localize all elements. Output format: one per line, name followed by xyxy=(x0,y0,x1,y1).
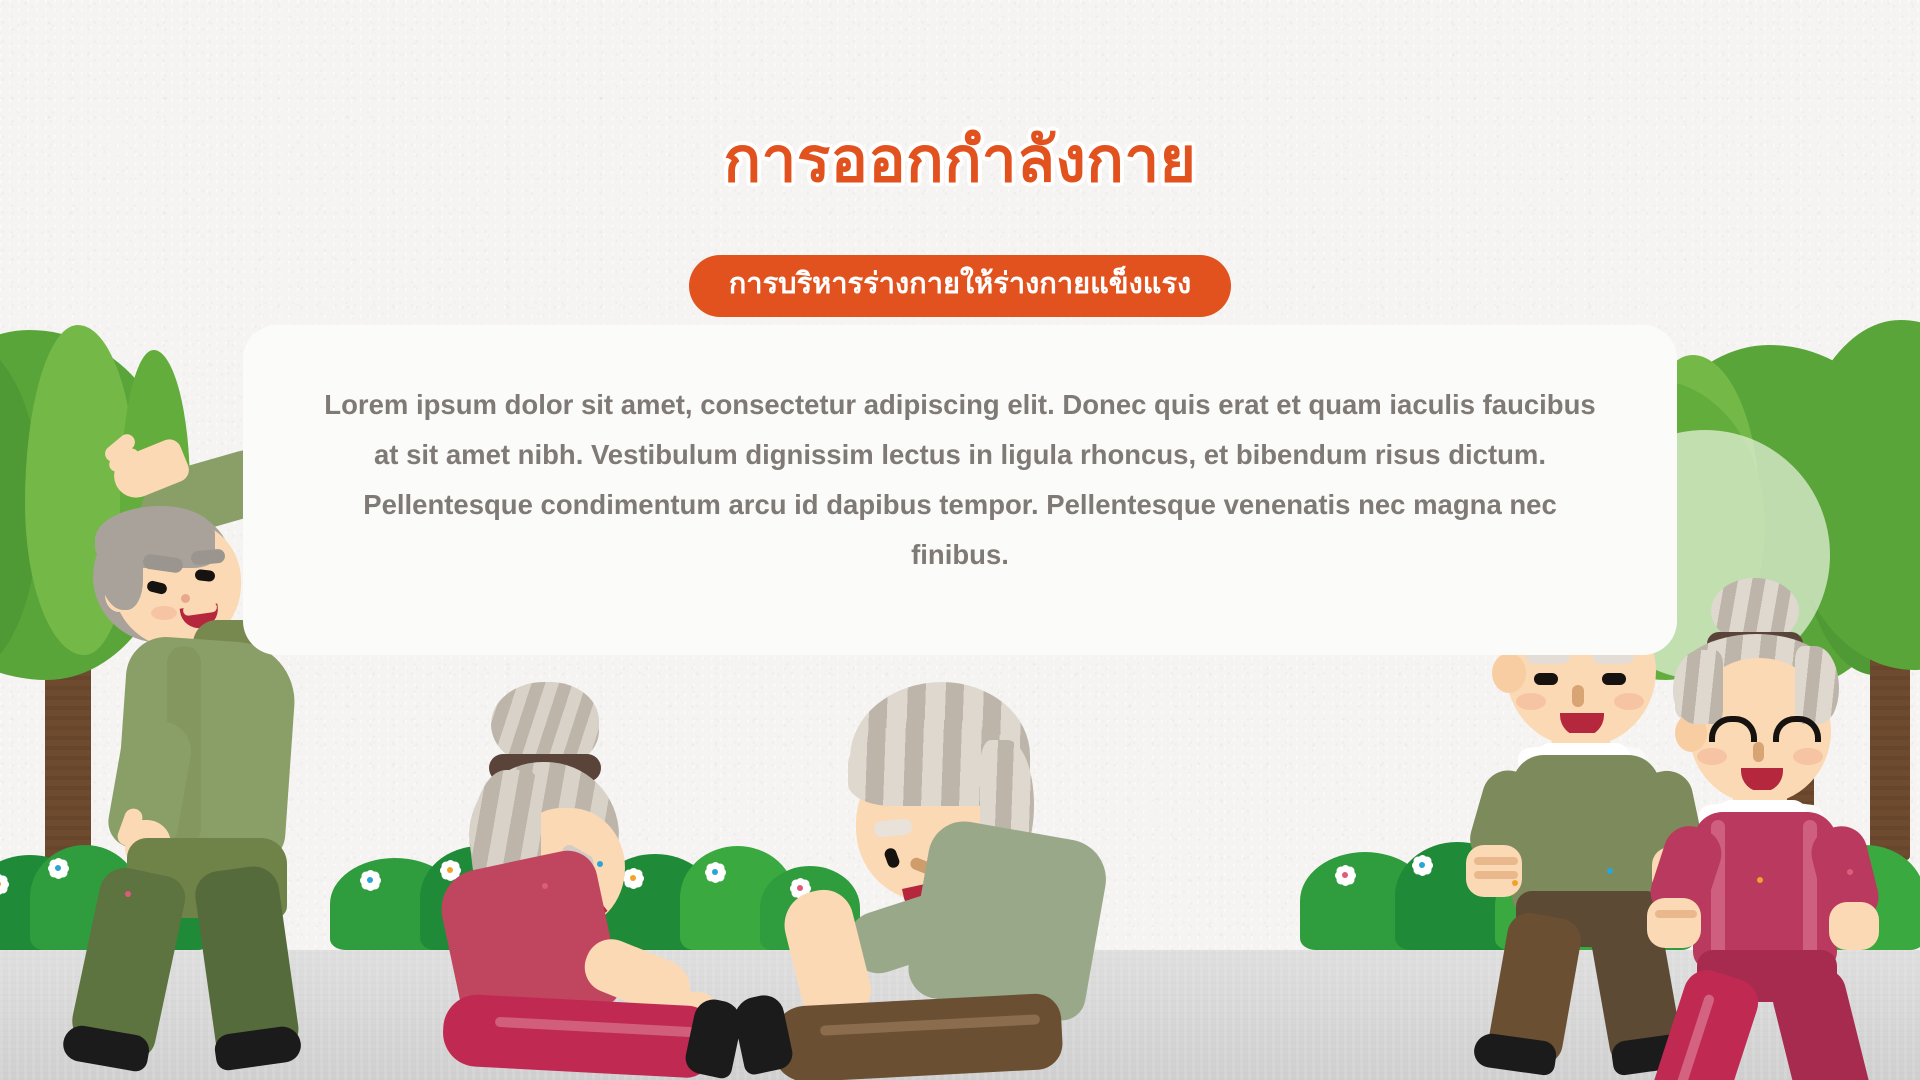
subtitle-badge: การบริหารร่างกายให้ร่างกายแข็งแรง xyxy=(689,255,1231,317)
page-title: การออกกำลังกาย xyxy=(0,125,1920,196)
slide-root: การออกกำลังกาย การบริหารร่างกายให้ร่างกา… xyxy=(0,0,1920,1080)
figure-woman-forward-fold-sage xyxy=(830,700,1190,1050)
subtitle-badge-container: การบริหารร่างกายให้ร่างกายแข็งแรง xyxy=(0,255,1920,317)
title-container: การออกกำลังกาย xyxy=(0,125,1920,196)
body-paragraph: Lorem ipsum dolor sit amet, consectetur … xyxy=(243,380,1677,580)
figure-woman-walking xyxy=(1645,620,1920,1080)
